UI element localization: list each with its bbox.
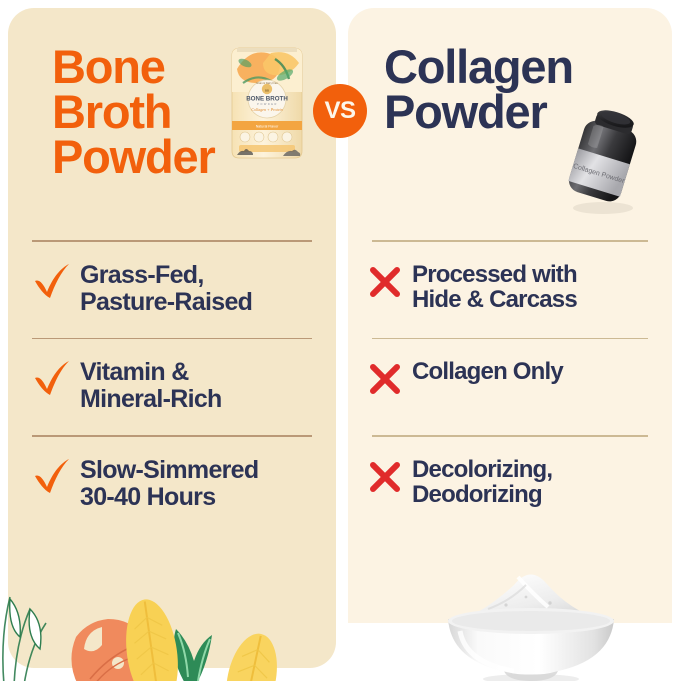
list-item: Collagen Only bbox=[348, 339, 672, 435]
cross-icon bbox=[368, 362, 402, 396]
cross-icon bbox=[368, 460, 402, 494]
vs-label: VS bbox=[324, 97, 355, 125]
collagen-jar-image: Collagen Powder bbox=[557, 108, 647, 218]
svg-text:BB: BB bbox=[265, 88, 269, 92]
list-item-text: Vitamin & Mineral-Rich bbox=[80, 357, 222, 413]
list-item-text: Grass-Fed, Pasture-Raised bbox=[80, 260, 252, 316]
divider bbox=[372, 240, 648, 242]
svg-text:Collagen + Protein: Collagen + Protein bbox=[251, 107, 282, 112]
list-item-text: Collagen Only bbox=[412, 357, 563, 385]
check-icon bbox=[32, 457, 72, 497]
bowl-of-powder-image bbox=[418, 557, 668, 681]
check-icon bbox=[32, 262, 72, 302]
collagen-powder-drawbacks-list: Processed with Hide & Carcass Collagen O… bbox=[348, 240, 672, 533]
divider bbox=[372, 435, 648, 437]
svg-text:P O W D E R: P O W D E R bbox=[257, 102, 277, 106]
svg-text:BONE BROTH: BONE BROTH bbox=[246, 96, 288, 103]
list-item: Grass-Fed, Pasture-Raised bbox=[8, 242, 336, 338]
divider bbox=[32, 435, 312, 437]
tropical-leaves-decoration bbox=[0, 557, 290, 681]
list-item: Processed with Hide & Carcass bbox=[348, 242, 672, 338]
check-icon bbox=[32, 359, 72, 399]
divider bbox=[32, 240, 312, 242]
comparison-infographic: Bone Broth Powder bbox=[0, 0, 679, 681]
vs-badge: VS bbox=[313, 84, 367, 138]
svg-text:Natural Flavor: Natural Flavor bbox=[256, 124, 279, 128]
divider bbox=[32, 338, 312, 340]
list-item: Slow-Simmered 30-40 Hours bbox=[8, 437, 336, 533]
list-item-text: Processed with Hide & Carcass bbox=[412, 260, 577, 314]
divider bbox=[372, 338, 648, 340]
bone-broth-benefits-list: Grass-Fed, Pasture-Raised Vitamin & Mine… bbox=[8, 240, 336, 533]
list-item-text: Decolorizing, Deodorizing bbox=[412, 455, 552, 509]
svg-text:Grain & Dairy Free: Grain & Dairy Free bbox=[256, 81, 278, 85]
list-item: Vitamin & Mineral-Rich bbox=[8, 339, 336, 435]
title-line-1: Collagen bbox=[384, 44, 664, 89]
bone-broth-pouch-image: BB Grain & Dairy Free BONE BROTH P O W D… bbox=[223, 39, 311, 164]
list-item-text: Slow-Simmered 30-40 Hours bbox=[80, 455, 258, 511]
list-item: Decolorizing, Deodorizing bbox=[348, 437, 672, 533]
cross-icon bbox=[368, 265, 402, 299]
